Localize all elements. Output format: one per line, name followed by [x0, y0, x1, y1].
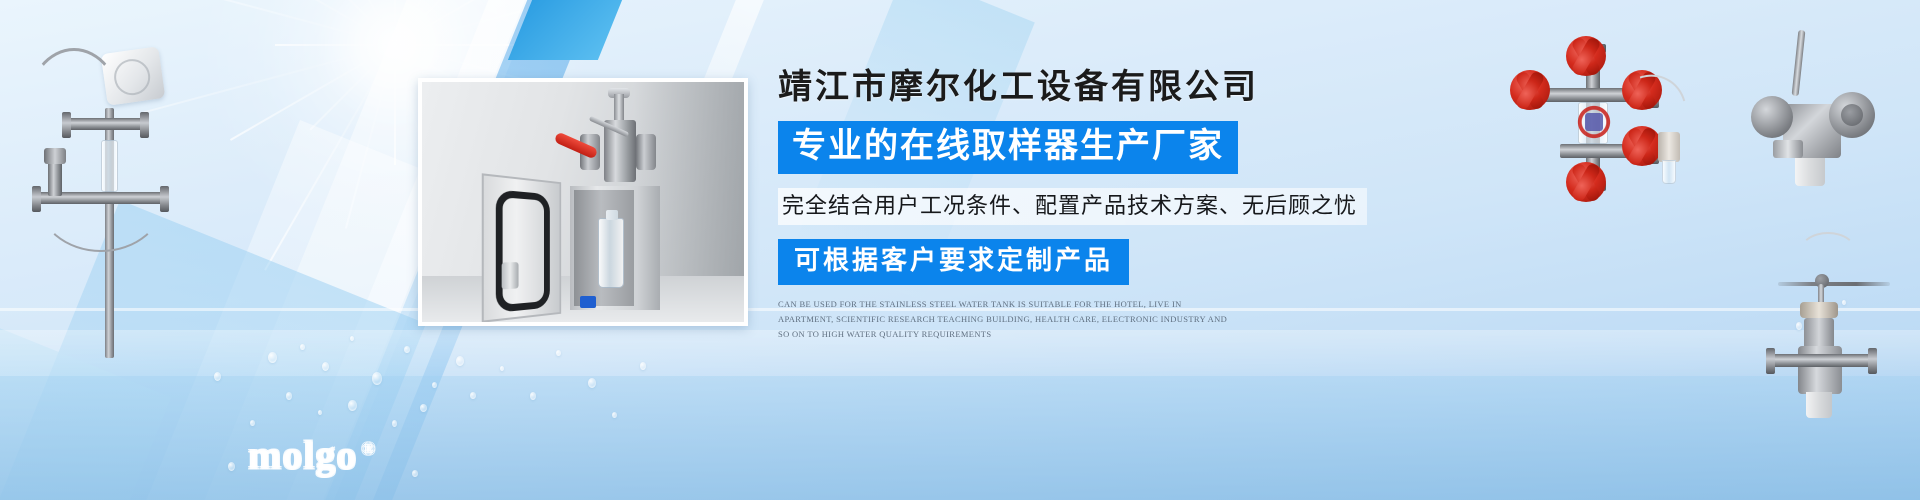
red-handwheel: [1510, 70, 1550, 110]
water-droplet-icon: [500, 366, 504, 371]
water-droplet-icon: [588, 378, 596, 388]
sample-vial: [1806, 392, 1832, 418]
sun-ray: [394, 45, 396, 165]
subheadline: 完全结合用户工况条件、配置产品技术方案、无后顾之忧: [778, 188, 1367, 225]
company-name: 靖江市摩尔化工设备有限公司: [778, 68, 1398, 109]
water-droplet-icon: [318, 410, 322, 415]
water-droplet-icon: [432, 382, 437, 388]
sun-ray: [299, 0, 396, 46]
handwheel-bar: [1778, 282, 1890, 286]
water-droplet-icon: [556, 350, 561, 356]
sample-bottle: [598, 218, 624, 288]
water-droplet-icon: [286, 392, 292, 400]
watermark-registered-mark: ®: [361, 438, 375, 458]
lever-handle: [1792, 30, 1806, 96]
tubing: [36, 142, 166, 252]
diagonal-stripe: [0, 300, 171, 500]
flange: [140, 112, 149, 138]
sun-ray: [394, 0, 396, 45]
headline-badge: 专业的在线取样器生产厂家: [778, 121, 1238, 174]
water-droplet-icon: [456, 356, 464, 366]
sun-ray: [394, 0, 480, 46]
sun-ray: [327, 0, 396, 45]
watermark-text: molgo: [248, 433, 357, 478]
flange: [1766, 348, 1775, 374]
flange: [1751, 96, 1793, 138]
banner-text-block: 靖江市摩尔化工设备有限公司 专业的在线取样器生产厂家 完全结合用户工况条件、配置…: [778, 68, 1398, 342]
online-sampler-cabinet-photo: [418, 78, 748, 326]
sun-ray: [309, 0, 395, 46]
water-droplet-icon: [322, 362, 329, 371]
door-gasket: [496, 189, 550, 312]
red-handwheel: [1566, 36, 1606, 76]
cabinet-door: [482, 173, 561, 323]
water-droplet-icon: [412, 470, 418, 477]
cross-valve-assembly-image: [1508, 40, 1698, 195]
accent-block: [508, 0, 622, 60]
water-droplet-icon: [470, 392, 476, 399]
flange: [1868, 348, 1877, 374]
bonnet: [1800, 302, 1838, 318]
cta-badge: 可根据客户要求定制产品: [778, 239, 1129, 285]
sun-ray: [211, 0, 395, 46]
water-droplet-icon: [392, 420, 397, 427]
tubing: [1798, 232, 1858, 276]
sun-ray: [309, 44, 395, 130]
pipe: [1768, 354, 1874, 367]
water-droplet-icon: [372, 372, 382, 385]
sun-ray: [345, 45, 396, 229]
water-droplet-icon: [530, 392, 536, 400]
sun-ray: [394, 0, 445, 45]
sampling-valve: [582, 94, 656, 194]
water-droplet-icon: [300, 344, 305, 350]
sample-vial: [1662, 160, 1676, 184]
water-droplet-icon: [350, 336, 354, 341]
brand-watermark: molgo®: [248, 432, 376, 479]
sun-ray: [395, 0, 561, 46]
sample-vial: [1795, 158, 1825, 186]
sun-ray: [394, 0, 526, 46]
blue-label: [580, 296, 596, 308]
door-latch: [502, 262, 519, 289]
flange: [636, 134, 656, 170]
water-droplet-icon: [348, 400, 357, 411]
water-droplet-icon: [214, 372, 221, 381]
sun-ray: [275, 44, 395, 46]
flanged-lever-valve-image: [1755, 30, 1905, 210]
water-droplet-icon: [228, 462, 235, 471]
water-droplet-icon: [268, 352, 277, 363]
water-droplet-icon: [640, 362, 646, 370]
water-droplet-icon: [404, 346, 410, 353]
adjuster: [1773, 140, 1803, 158]
needle-valve-image: [1768, 236, 1898, 416]
sun-ray: [395, 44, 515, 46]
sampling-probe-assembly-image: [8, 22, 208, 322]
flange-bore: [1841, 104, 1863, 126]
water-droplet-icon: [250, 420, 255, 426]
sun-ray: [395, 0, 647, 46]
sun-ray: [230, 44, 396, 141]
sun-ray: [264, 45, 396, 271]
red-handwheel: [1566, 162, 1606, 202]
water-droplet-icon: [420, 404, 427, 412]
english-description: CAN BE USED FOR THE STAINLESS STEEL WATE…: [778, 297, 1230, 342]
company-seal-icon: [1574, 102, 1614, 142]
water-droplet-icon: [612, 412, 617, 418]
promo-banner: 靖江市摩尔化工设备有限公司 专业的在线取样器生产厂家 完全结合用户工况条件、配置…: [0, 0, 1920, 500]
